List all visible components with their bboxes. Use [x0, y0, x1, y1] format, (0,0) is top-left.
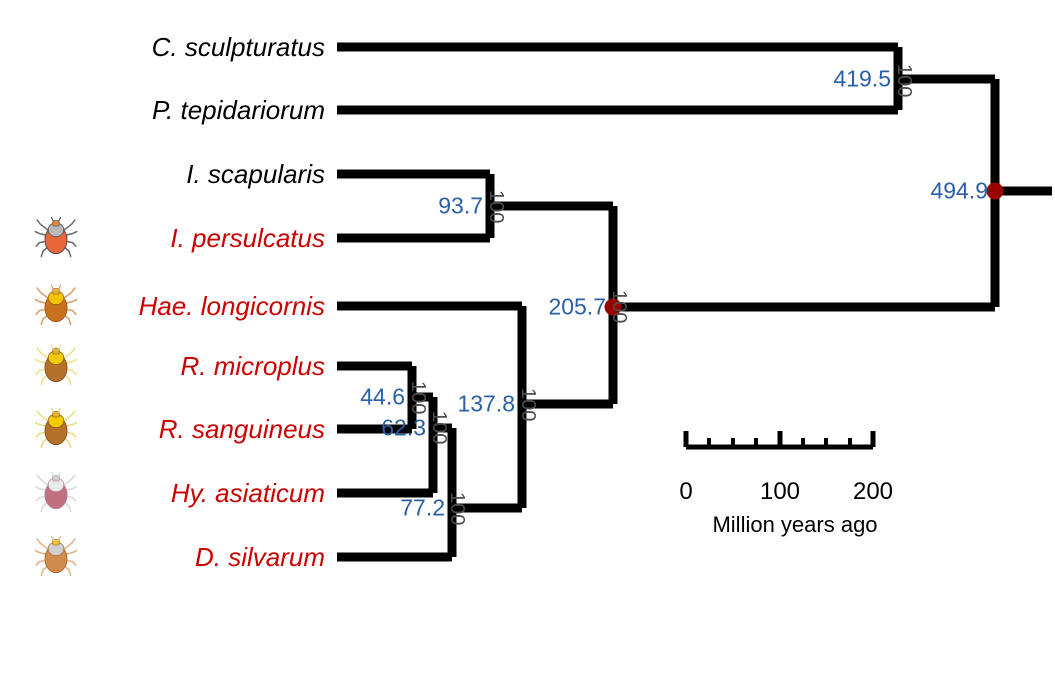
tick-hyalomma-asiaticum-icon: [33, 470, 79, 516]
divergence-age-n-metastriata: 137.8: [457, 391, 515, 418]
support-value-sup-ixodes: 100: [484, 190, 507, 223]
tip-label-p-tepidariorum: P. tepidariorum: [0, 97, 325, 123]
tick-ixodes-persulcatus-icon: [33, 215, 79, 261]
divergence-age-n-rhipi: 44.6: [360, 384, 405, 411]
support-value-sup-dermacentor: 100: [445, 492, 468, 525]
support-value-sup-acari: 100: [607, 290, 630, 323]
scale-bar-layer: [686, 431, 873, 447]
divergence-age-n-dermacentor: 77.2: [400, 495, 445, 522]
divergence-age-n-ixodes: 93.7: [438, 193, 483, 220]
scale-axis-title: Million years ago: [712, 512, 877, 538]
tick-dermacentor-silvarum-icon: [33, 534, 79, 580]
divergence-age-n-rhipi-hyal: 62.3: [381, 415, 426, 442]
divergence-age-n-arachnid: 419.5: [833, 66, 891, 93]
tick-haemaphysalis-longicornis-icon: [33, 283, 79, 329]
support-value-sup-metastriata: 100: [516, 388, 539, 421]
divergence-age-n-acari: 205.7: [548, 294, 606, 321]
tick-rhipicephalus-microplus-icon: [33, 343, 79, 389]
support-value-sup-rhipi: 100: [406, 381, 429, 414]
support-value-sup-rhipi-hyal: 100: [427, 411, 450, 444]
tip-label-i-scapularis: I. scapularis: [0, 161, 325, 187]
tick-rhipicephalus-sanguineus-icon: [33, 406, 79, 452]
node-marker: [987, 183, 1004, 200]
support-value-sup-arachnid: 100: [892, 64, 915, 97]
scale-tick-label-100: 100: [760, 478, 800, 506]
tip-label-c-sculpturatus: C. sculpturatus: [0, 34, 325, 60]
branch-layer: [337, 47, 1052, 557]
divergence-age-n-root: 494.9: [930, 178, 988, 205]
scale-tick-label-200: 200: [853, 478, 893, 506]
phylogenetic-tree-figure: C. sculpturatusP. tepidariorumI. scapula…: [0, 0, 1055, 679]
scale-tick-label-0: 0: [679, 478, 692, 506]
